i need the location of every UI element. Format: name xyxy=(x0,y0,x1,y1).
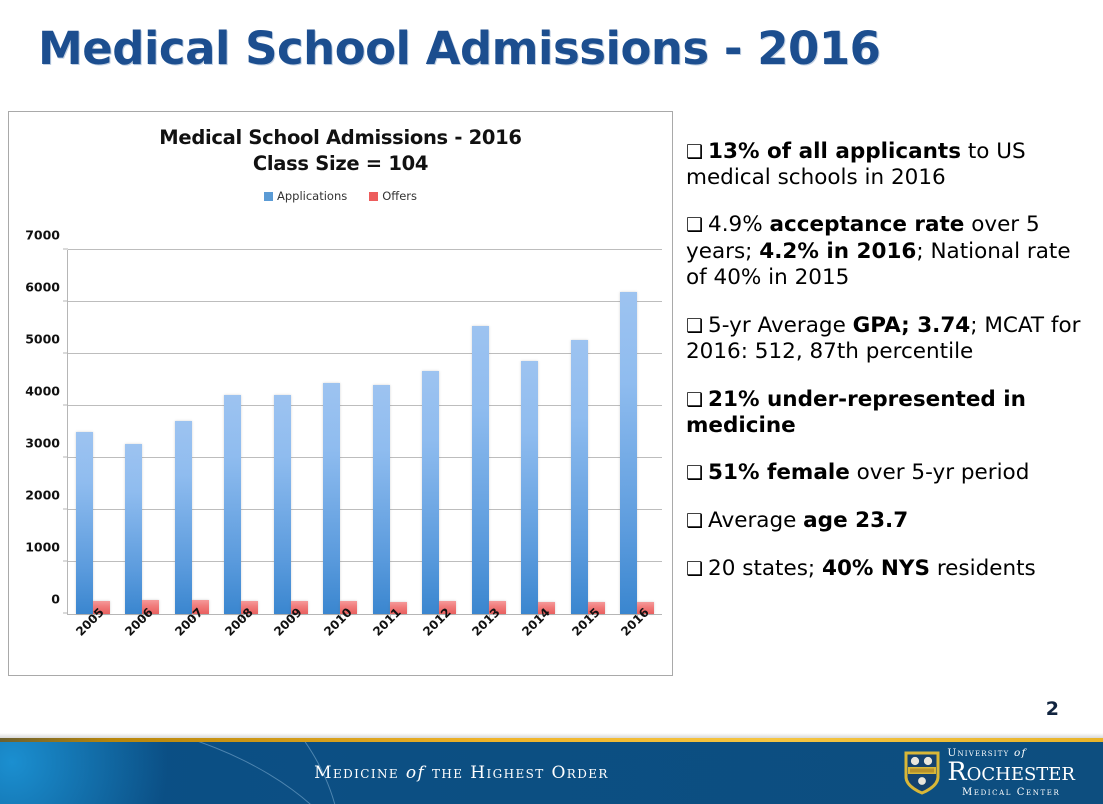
bullet-list: ❑13% of all applicants to US medical sch… xyxy=(686,117,1094,597)
bar-group xyxy=(68,250,118,614)
x-axis-label-cell: 2014 xyxy=(513,615,563,675)
x-axis-label-cell: 2005 xyxy=(67,615,117,675)
x-axis-label-cell: 2008 xyxy=(216,615,266,675)
bullet-square-icon: ❑ xyxy=(686,462,703,484)
bar-applications xyxy=(373,385,390,614)
bullet-square-icon: ❑ xyxy=(686,510,703,532)
bullet-square-icon: ❑ xyxy=(686,389,703,411)
bar-group xyxy=(415,250,465,614)
legend-label-applications: Applications xyxy=(277,189,347,203)
bar-applications xyxy=(323,383,340,614)
bullet-text-bold: GPA; 3.74 xyxy=(853,313,971,338)
bar-group xyxy=(514,250,564,614)
bar-applications xyxy=(175,421,192,614)
bullet-item: ❑13% of all applicants to US medical sch… xyxy=(686,139,1094,191)
y-axis-tick-label: 7000 xyxy=(25,228,60,243)
bar-applications xyxy=(521,361,538,614)
x-axis-label-cell: 2011 xyxy=(364,615,414,675)
logo-medical-center-line: Medical Center xyxy=(947,788,1075,798)
bar-group xyxy=(167,250,217,614)
bar-group xyxy=(365,250,415,614)
page-title: Medical School Admissions - 2016 xyxy=(38,22,880,75)
bullet-text: residents xyxy=(930,556,1036,581)
bullet-text-bold: 51% female xyxy=(708,460,850,485)
x-axis-label-cell: 2009 xyxy=(265,615,315,675)
x-axis-label-cell: 2016 xyxy=(612,615,662,675)
bullet-square-icon: ❑ xyxy=(686,558,703,580)
bullet-text: over 5-yr period xyxy=(850,460,1030,485)
bullet-text: 20 states; xyxy=(708,556,822,581)
bar-applications xyxy=(76,432,93,614)
y-axis-tick-label: 3000 xyxy=(25,436,60,451)
y-axis-tick-label: 5000 xyxy=(25,332,60,347)
logo-wordmark: University of Rochester Medical Center xyxy=(947,748,1075,798)
bar-group xyxy=(316,250,366,614)
bullet-square-icon: ❑ xyxy=(686,141,703,163)
bullet-item: ❑Average age 23.7 xyxy=(686,508,1094,534)
y-axis-tick-label: 1000 xyxy=(25,540,60,555)
bullet-text-bold: age 23.7 xyxy=(803,508,908,533)
x-axis-label-cell: 2010 xyxy=(315,615,365,675)
chart-panel: Medical School Admissions - 2016 Class S… xyxy=(8,111,673,676)
bullet-square-icon: ❑ xyxy=(686,214,703,236)
bullet-text: 5-yr Average xyxy=(708,313,853,338)
logo-rochester-word: Rochester xyxy=(947,760,1075,786)
chart-legend: Applications Offers xyxy=(9,189,672,203)
bullet-item: ❑5-yr Average GPA; 3.74; MCAT for 2016: … xyxy=(686,313,1094,365)
bar-series-container xyxy=(68,250,662,614)
tagline-post: the Highest Order xyxy=(425,763,609,783)
x-axis-label-cell: 2006 xyxy=(117,615,167,675)
x-axis-label-cell: 2015 xyxy=(563,615,613,675)
x-axis-label-cell: 2013 xyxy=(464,615,514,675)
y-axis-tick-label: 4000 xyxy=(25,384,60,399)
x-axis-label-cell: 2012 xyxy=(414,615,464,675)
university-logo: University of Rochester Medical Center xyxy=(904,748,1075,798)
legend-entry-applications: Applications xyxy=(264,189,347,203)
chart-title: Medical School Admissions - 2016 Class S… xyxy=(9,125,672,177)
x-axis-labels: 2005200620072008200920102011201220132014… xyxy=(67,615,662,675)
bullet-item: ❑51% female over 5-yr period xyxy=(686,460,1094,486)
legend-swatch-offers xyxy=(369,192,378,201)
tagline-of: of xyxy=(406,763,425,783)
bar-group xyxy=(217,250,267,614)
footer-band: Medicine of the Highest Order University… xyxy=(0,742,1103,804)
bar-applications xyxy=(224,395,241,614)
x-axis-label-cell: 2007 xyxy=(166,615,216,675)
shield-icon xyxy=(904,751,940,795)
chart-title-line1: Medical School Admissions - 2016 xyxy=(159,126,521,149)
bullet-item: ❑4.9% acceptance rate over 5 years; 4.2%… xyxy=(686,212,1094,291)
legend-label-offers: Offers xyxy=(382,189,417,203)
legend-entry-offers: Offers xyxy=(369,189,417,203)
bullet-item: ❑20 states; 40% NYS residents xyxy=(686,556,1094,582)
bullet-text-bold: 21% under-represented in medicine xyxy=(686,387,1026,438)
bar-group xyxy=(266,250,316,614)
y-axis-tick-label: 6000 xyxy=(25,280,60,295)
bullet-text-bold: 4.2% in 2016 xyxy=(759,239,916,264)
y-axis-tick-label: 0 xyxy=(51,592,60,607)
tagline-pre: Medicine xyxy=(314,763,406,783)
y-axis-tick-label: 2000 xyxy=(25,488,60,503)
bar-applications xyxy=(422,371,439,614)
bullet-text-bold: 40% NYS xyxy=(822,556,930,581)
bullet-text: Average xyxy=(708,508,803,533)
bar-applications xyxy=(125,444,142,614)
bar-group xyxy=(464,250,514,614)
bar-applications xyxy=(472,326,489,614)
bar-group xyxy=(118,250,168,614)
plot-wrapper: 01000200030004000500060007000 2005200620… xyxy=(9,240,674,677)
legend-swatch-applications xyxy=(264,192,273,201)
page-number: 2 xyxy=(1046,698,1059,720)
bullet-item: ❑21% under-represented in medicine xyxy=(686,387,1094,439)
chart-title-line2: Class Size = 104 xyxy=(9,151,672,177)
bar-applications xyxy=(620,292,637,614)
bullet-text: 4.9% xyxy=(708,212,769,237)
bullet-text-bold: 13% of all applicants xyxy=(708,139,961,164)
bullet-square-icon: ❑ xyxy=(686,315,703,337)
bar-group xyxy=(613,250,663,614)
bar-applications xyxy=(274,395,291,614)
bar-applications xyxy=(571,340,588,614)
plot-area: 01000200030004000500060007000 xyxy=(67,250,662,615)
bullet-text-bold: acceptance rate xyxy=(770,212,965,237)
bar-group xyxy=(563,250,613,614)
